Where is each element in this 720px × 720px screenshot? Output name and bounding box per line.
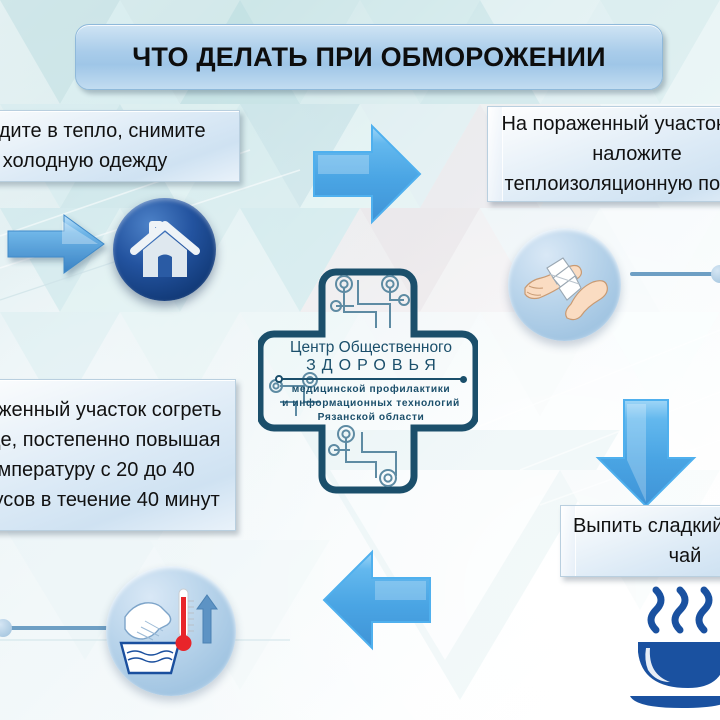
logo-line-5: Рязанской области bbox=[276, 411, 466, 425]
house-icon bbox=[130, 219, 200, 281]
step-text-bandage-label: На пораженный участок тела наложите тепл… bbox=[498, 109, 720, 199]
page-title: ЧТО ДЕЛАТЬ ПРИ ОБМОРОЖЕНИИ bbox=[132, 42, 605, 73]
logo-line-4: и информационных технологий bbox=[276, 397, 466, 411]
step-text-warm-water: Пораженный участок согреть в воде, посте… bbox=[0, 379, 236, 531]
arrow-right-icon bbox=[312, 122, 422, 226]
arrow-left-icon bbox=[322, 548, 432, 652]
house-icon-badge bbox=[113, 198, 216, 301]
logo-line-3: медицинской профилактики bbox=[276, 383, 466, 397]
hand-in-basin-thermometer-icon bbox=[119, 581, 223, 681]
bandaged-hand-icon-badge bbox=[508, 228, 621, 341]
arrow-right-icon bbox=[8, 213, 106, 275]
teacup-icon bbox=[630, 586, 720, 714]
step-text-bandage: На пораженный участок тела наложите тепл… bbox=[487, 106, 720, 202]
step-text-warm-room-label: Зайдите в тепло, снимите холодную одежду bbox=[0, 116, 229, 176]
step-text-warm-water-label: Пораженный участок согреть в воде, посте… bbox=[0, 395, 225, 515]
arrow-down-icon bbox=[594, 398, 698, 508]
logo-divider bbox=[278, 378, 464, 380]
bandaged-hand-icon bbox=[519, 248, 611, 322]
logo-line-1: Центр Общественного bbox=[276, 340, 466, 356]
organization-logo: Центр Общественного ЗДОРОВЬЯ медицинской… bbox=[258, 266, 478, 498]
logo-line-2: ЗДОРОВЬЯ bbox=[276, 356, 466, 376]
teacup-icon-badge bbox=[630, 586, 720, 719]
hand-in-basin-thermometer-icon-badge bbox=[106, 566, 236, 696]
step-text-sweet-tea-label: Выпить сладкий теплый чай bbox=[571, 511, 720, 571]
logo-text-block: Центр Общественного ЗДОРОВЬЯ медицинской… bbox=[276, 340, 466, 425]
step-text-sweet-tea: Выпить сладкий теплый чай bbox=[560, 505, 720, 577]
connector-line-right bbox=[630, 272, 720, 276]
poster-title-bar: ЧТО ДЕЛАТЬ ПРИ ОБМОРОЖЕНИИ bbox=[75, 24, 663, 90]
step-text-warm-room: Зайдите в тепло, снимите холодную одежду bbox=[0, 110, 240, 182]
infographic-poster: ЧТО ДЕЛАТЬ ПРИ ОБМОРОЖЕНИИ bbox=[0, 0, 720, 720]
